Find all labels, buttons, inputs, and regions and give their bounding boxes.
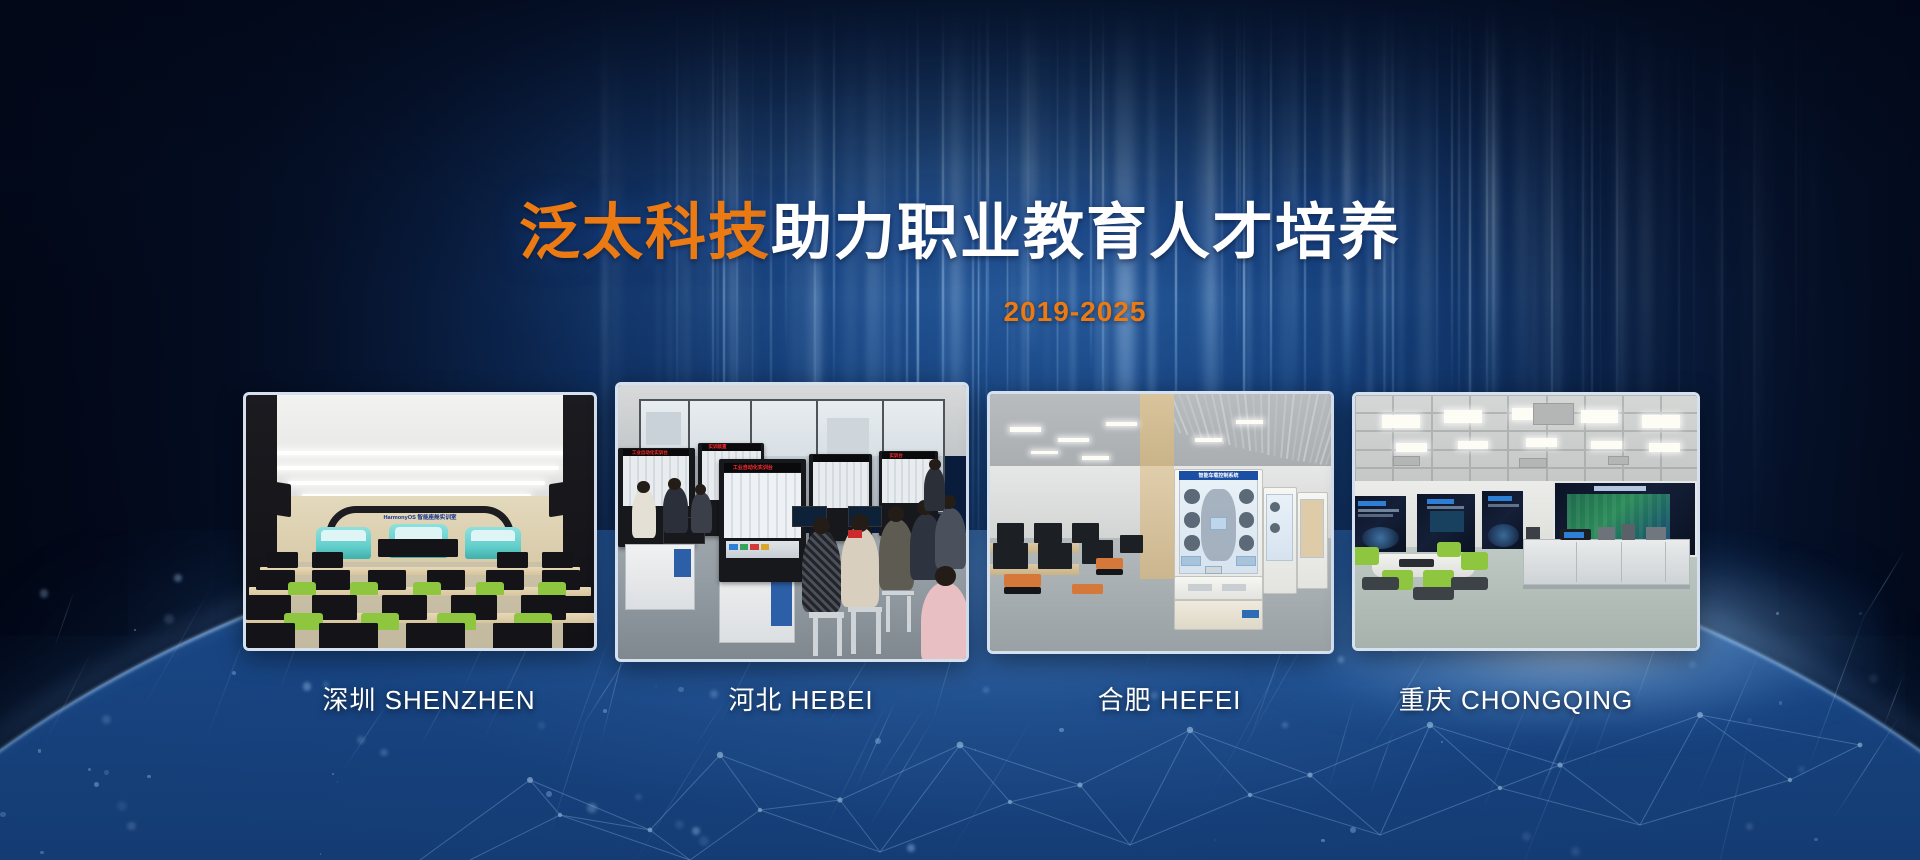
scene-hebei: 工业自动化实训台 实训装置 工业自动化实训台: [618, 385, 966, 659]
scene-chongqing: [1355, 395, 1697, 648]
gallery-photo-shenzhen[interactable]: HarmonyOS 智能座舱实训室: [243, 392, 597, 651]
page-title: 泛太科技助力职业教育人才培养: [0, 198, 1920, 266]
photo-gallery: HarmonyOS 智能座舱实训室: [243, 382, 1680, 662]
caption-row: 深圳 SHENZHEN 河北 HEBEI 合肥 HEFEI 重庆 CHONGQI…: [243, 680, 1680, 717]
scene-shenzhen: HarmonyOS 智能座舱实训室: [246, 395, 594, 648]
caption-shenzhen: 深圳 SHENZHEN: [243, 680, 615, 717]
scene-hefei: 智能车载控制系统: [990, 394, 1331, 651]
gallery-photo-chongqing[interactable]: [1352, 392, 1700, 651]
scene-label-hefei: 智能车载控制系统: [1179, 471, 1257, 480]
year-range: 2019-2025: [0, 296, 1920, 328]
title-brand: 泛太科技: [519, 198, 771, 266]
gallery-photo-hebei[interactable]: 工业自动化实训台 实训装置 工业自动化实训台: [615, 382, 969, 662]
hero-banner: 泛太科技助力职业教育人才培养 2019-2025 HarmonyOS 智能座舱实…: [0, 0, 1920, 860]
caption-chongqing: 重庆 CHONGQING: [1352, 680, 1680, 717]
title-rest: 助力职业教育人才培养: [771, 198, 1401, 266]
caption-hefei: 合肥 HEFEI: [987, 680, 1352, 717]
caption-hebei: 河北 HEBEI: [615, 680, 987, 717]
scene-label-shenzhen: HarmonyOS 智能座舱实训室: [343, 513, 496, 521]
gallery-photo-hefei[interactable]: 智能车载控制系统: [987, 391, 1334, 654]
